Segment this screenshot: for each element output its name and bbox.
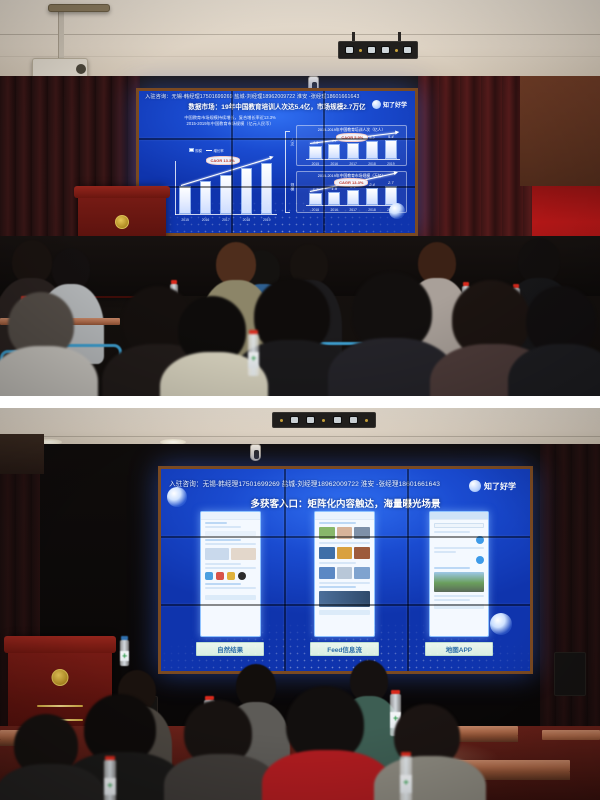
main-chart-legend: 规模 增长率 — [189, 148, 224, 153]
phone-content-line — [434, 547, 485, 549]
wall-wood-panel — [520, 76, 600, 186]
brand-logo: 知了好学 — [469, 480, 516, 492]
podium-emblem — [52, 669, 69, 686]
chart-bar: 5.4 — [385, 140, 397, 159]
slide-heading: 多获客入口：矩阵化内容触达，海量曝光场景 — [161, 496, 530, 510]
phone-thumbnail — [354, 547, 370, 559]
projector-lens — [76, 64, 86, 74]
phone-content-line — [205, 522, 227, 524]
chart-cat-label: 2015 — [312, 162, 320, 166]
stage-lamp — [306, 416, 315, 424]
water-bottle — [400, 756, 412, 800]
phone-content-line — [319, 582, 370, 584]
phone-icon-row — [205, 572, 256, 580]
slide-glow-orb — [167, 487, 187, 507]
brand-logo: 知了好学 — [372, 100, 407, 109]
podium-desktop — [74, 186, 169, 198]
chart-bar: 5.2 — [366, 141, 378, 158]
phone-thumbnail — [354, 567, 370, 579]
phone-map-photo — [434, 572, 485, 592]
phone-app-icon — [205, 572, 213, 580]
phone-thumbnail — [337, 547, 353, 559]
phone-app-icon — [238, 572, 246, 580]
slide-charts: 入驻咨询：无锡-韩经理17501699269 盐城-刘经理18962009722… — [139, 91, 415, 233]
phone-search-field — [434, 523, 485, 528]
phone-content-line — [205, 567, 256, 569]
stage-lamp-indicator — [395, 49, 398, 52]
ceiling-hook — [250, 444, 261, 461]
phone-thumbnail-row — [319, 567, 370, 579]
chart-cat-label: 2019 — [387, 162, 395, 166]
audience-person — [508, 286, 600, 396]
desk — [542, 730, 600, 740]
phone-content-line — [434, 551, 456, 553]
phone-content-line — [205, 543, 256, 545]
stage-lamp — [381, 46, 390, 54]
podium-water-bottle — [120, 640, 129, 666]
water-bottle — [104, 760, 116, 800]
phone-status-bar — [430, 512, 489, 520]
audience-person — [262, 686, 388, 800]
chart-cat-label: 2016 — [330, 162, 338, 166]
podium-desktop — [4, 636, 116, 653]
phone-locate-icon — [476, 556, 484, 564]
photo-top: 入驻咨询：无锡-韩经理17501699269 盐城-刘经理18962009722… — [0, 0, 600, 396]
phone-thumbnail — [231, 548, 255, 560]
phone-content-line — [319, 586, 356, 588]
phone-thumbnail — [319, 547, 335, 559]
video-wall-top: 入驻咨询：无锡-韩经理17501699269 盐城-刘经理18962009722… — [136, 88, 418, 236]
phone-thumbnail-row — [319, 547, 370, 559]
sub-chart-panel-1: 2015-2019年中国教育培训人次（亿人） 4.3 4.7 4.9 — [296, 125, 406, 166]
chart-cat-label: 2018 — [368, 162, 376, 166]
slide-contact-line: 入驻咨询：无锡-韩经理17501699269 盐城-刘经理18962009722… — [145, 93, 359, 100]
phone-content-line — [205, 583, 242, 585]
audience-person — [164, 700, 274, 800]
audience-person — [0, 292, 94, 396]
audience-person — [0, 714, 100, 800]
legend-label-size: 规模 — [195, 148, 202, 153]
phone-icon-row — [434, 556, 485, 564]
audience-person — [374, 704, 482, 800]
phone-thumbnail — [337, 567, 353, 579]
brand-logo-icon — [372, 100, 381, 109]
wall-wood-panel — [0, 434, 44, 474]
chart-bar: 4.3 — [309, 146, 321, 159]
stage-lamp — [333, 416, 342, 424]
wall-speaker-right — [554, 652, 586, 696]
chart-cagr-badge: CAGR 13.3% — [206, 156, 240, 165]
stage-lamp-indicator — [322, 419, 325, 422]
video-wall-bottom: 入驻咨询：无锡-韩经理17501699269 盐城-刘经理18962009722… — [158, 466, 533, 674]
stage-lamp — [290, 416, 299, 424]
stage-lamp — [349, 416, 358, 424]
phone-content-line — [205, 539, 242, 541]
slide-phones: 入驻咨询：无锡-韩经理17501699269 盐城-刘经理18962009722… — [161, 469, 530, 671]
stage-lamp-indicator — [365, 419, 368, 422]
projector-ceiling-plate — [48, 4, 110, 12]
phone-content-line — [319, 522, 356, 524]
phone-content-line — [205, 587, 256, 589]
projector-mount-arm — [58, 8, 64, 62]
stage-lamp — [345, 46, 354, 54]
sub-bar-chart-1: 4.3 4.7 4.9 5.2 — [306, 139, 400, 159]
stage-lamp — [403, 46, 412, 54]
photo-bottom: 入驻咨询：无锡-韩经理17501699269 盐城-刘经理18962009722… — [0, 408, 600, 800]
chart-cat-label: 2017 — [349, 162, 357, 166]
phone-thumbnail-row — [205, 548, 256, 560]
phone-app-icon — [216, 572, 224, 580]
chart-bar: 4.7 — [328, 144, 340, 159]
stage-light-bar — [272, 412, 376, 428]
phone-thumbnail — [205, 548, 229, 560]
phone-status-bar — [201, 512, 260, 520]
slide-contact-line: 入驻咨询：无锡-韩经理17501699269 盐城-刘经理18962009722… — [169, 478, 440, 488]
phone-content-line — [434, 567, 471, 569]
slide-glow-orb — [389, 203, 405, 219]
legend-label-growth: 增长率 — [213, 148, 223, 153]
chart-category-labels: 2015 2016 2017 2018 2019 — [306, 162, 400, 166]
stage-lamp-indicator — [359, 49, 362, 52]
phone-app-icon — [227, 572, 235, 580]
phone-content-line — [205, 526, 242, 528]
brand-logo-icon — [469, 480, 481, 492]
photo-separator — [0, 396, 600, 408]
stage-light-bar — [338, 41, 418, 59]
phone-content-line — [434, 531, 471, 533]
chart-x-axis — [306, 159, 400, 160]
phone-content-line — [205, 563, 242, 565]
phone-content-line — [319, 562, 356, 564]
phone-thumbnail — [319, 567, 335, 579]
stage-lamp-indicator — [280, 419, 283, 422]
brand-logo-text: 知了好学 — [484, 481, 516, 492]
stage-lamp — [367, 46, 376, 54]
water-bottle — [248, 334, 259, 376]
brand-logo-text: 知了好学 — [383, 100, 407, 109]
phone-status-bar — [315, 512, 374, 520]
chart-bar: 4.9 — [347, 143, 359, 159]
stacked-photo-pair: 入驻咨询：无锡-韩经理17501699269 盐城-刘经理18962009722… — [0, 0, 600, 800]
phone-content-line — [319, 542, 370, 544]
podium-emblem — [115, 215, 129, 229]
